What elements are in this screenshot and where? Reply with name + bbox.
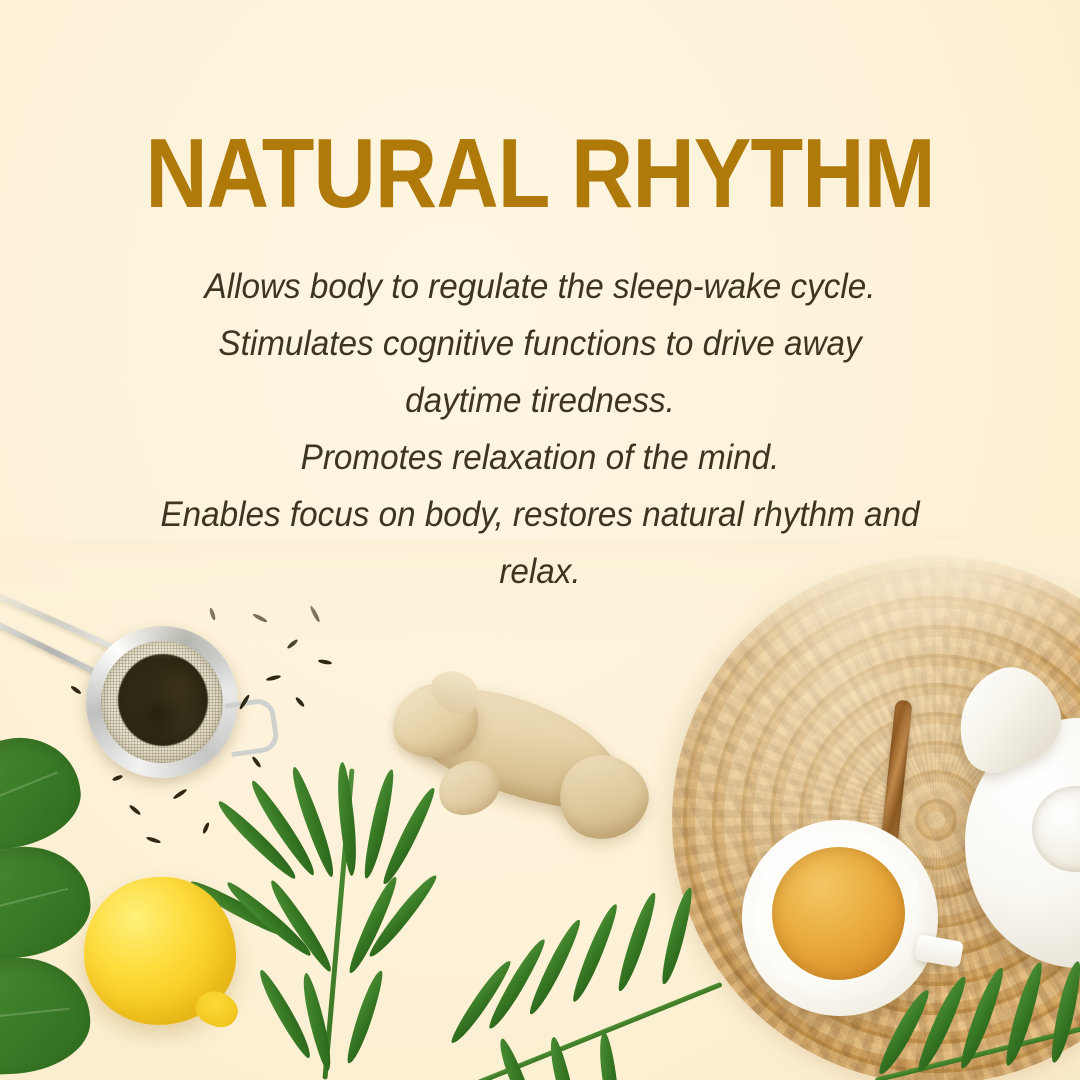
- scattered-tea-leaf: [202, 822, 211, 835]
- scattered-tea-leaf: [286, 638, 299, 649]
- body-line-2: Stimulates cognitive functions to drive …: [113, 315, 968, 372]
- body-line-5: Enables focus on body, restores natural …: [113, 486, 968, 543]
- palm-frond-right: [872, 960, 1080, 1080]
- scattered-tea-leaf: [146, 836, 162, 844]
- loose-tea-leaves-in-strainer: [118, 654, 208, 746]
- page-title: NATURAL RHYTHM: [65, 124, 1015, 222]
- text-layer: NATURAL RHYTHM Allows body to regulate t…: [0, 0, 1080, 640]
- body-line-3: daytime tiredness.: [113, 372, 968, 429]
- scattered-tea-leaf: [70, 685, 82, 695]
- body-line-6: relax.: [113, 543, 968, 600]
- scattered-tea-leaf: [128, 804, 141, 816]
- scattered-tea-leaf: [112, 774, 124, 782]
- scattered-tea-leaf: [266, 674, 282, 682]
- body-line-1: Allows body to regulate the sleep-wake c…: [113, 258, 968, 315]
- body-copy: Allows body to regulate the sleep-wake c…: [90, 258, 990, 600]
- strainer-clip: [224, 697, 280, 757]
- scattered-tea-leaf: [318, 659, 332, 665]
- scattered-tea-leaf: [172, 788, 188, 800]
- monstera-leaf: [0, 840, 95, 966]
- body-line-4: Promotes relaxation of the mind.: [113, 429, 968, 486]
- monstera-leaf: [0, 955, 92, 1077]
- monstera-leaf: [0, 728, 88, 860]
- scattered-tea-leaf: [251, 756, 262, 769]
- poster-canvas: NATURAL RHYTHM Allows body to regulate t…: [0, 0, 1080, 1080]
- palm-frond-lower: [452, 886, 752, 1080]
- scattered-tea-leaf: [294, 696, 305, 708]
